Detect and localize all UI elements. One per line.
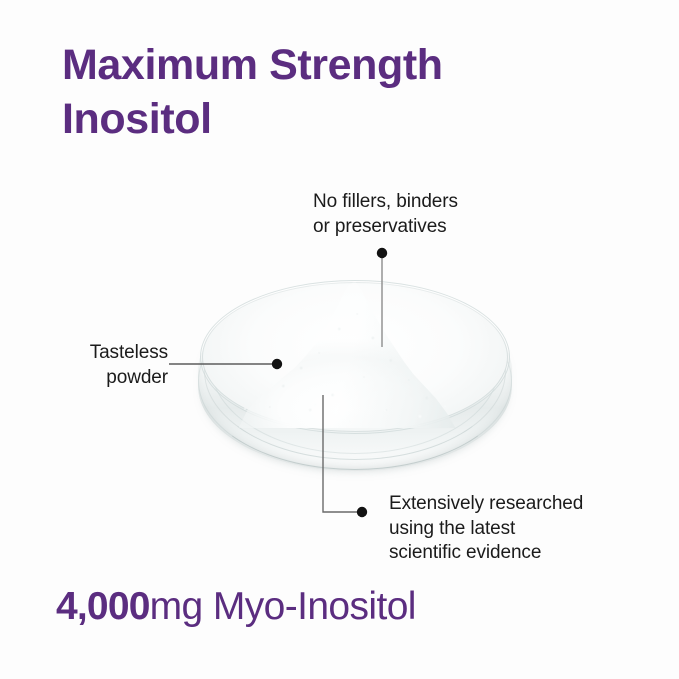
page-title: Maximum Strength Inositol bbox=[62, 38, 582, 146]
powder-scatter bbox=[220, 392, 470, 434]
dosage-statement: 4,000mg Myo-Inositol bbox=[56, 583, 416, 631]
product-infographic: Maximum Strength Inositol No fillers, bi… bbox=[0, 0, 679, 679]
dosage-amount: 4,000 bbox=[56, 585, 150, 628]
leader-dot-no-fillers bbox=[377, 248, 387, 258]
product-photo bbox=[190, 272, 520, 477]
callout-no-fillers: No fillers, binders or preservatives bbox=[313, 190, 563, 239]
leader-dot-researched bbox=[357, 507, 367, 517]
dosage-unit-and-ingredient: mg Myo-Inositol bbox=[150, 585, 416, 628]
callout-extensively-researched: Extensively researched using the latest … bbox=[389, 492, 649, 566]
callout-tasteless-powder: Tasteless powder bbox=[20, 341, 168, 390]
